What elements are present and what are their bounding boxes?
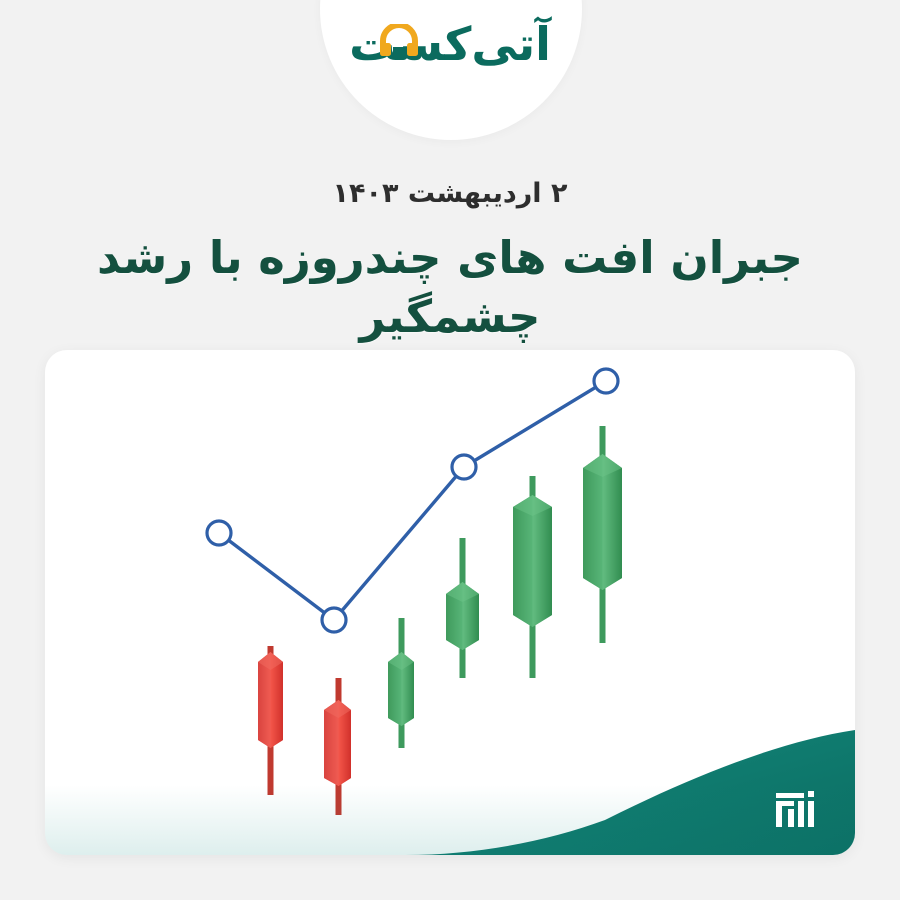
ati-watermark-icon [774,787,820,833]
publish-date: ۲ اردیبهشت ۱۴۰۳ [0,178,900,209]
page-title: جبران افت های چندروزه با رشد چشمگیر [20,228,880,347]
headphone-icon [379,24,419,57]
trend-marker [594,369,618,393]
brand-logo[interactable]: آتی‌کست [0,14,900,74]
candle-d6 [583,426,622,643]
trend-marker [452,455,476,479]
candle-d5 [513,476,552,678]
chart-card [45,350,855,855]
candle-d4 [446,538,479,678]
infographic-root: آتی‌کست ۲ اردیبهشت ۱۴۰۳ جبران افت های چن… [0,0,900,900]
trend-line [207,369,618,632]
candle-d3 [388,618,414,748]
trend-marker [207,521,231,545]
candle-d1 [258,646,283,795]
candle-d2 [324,678,351,815]
candlestick-chart [45,350,855,855]
trend-marker [322,608,346,632]
